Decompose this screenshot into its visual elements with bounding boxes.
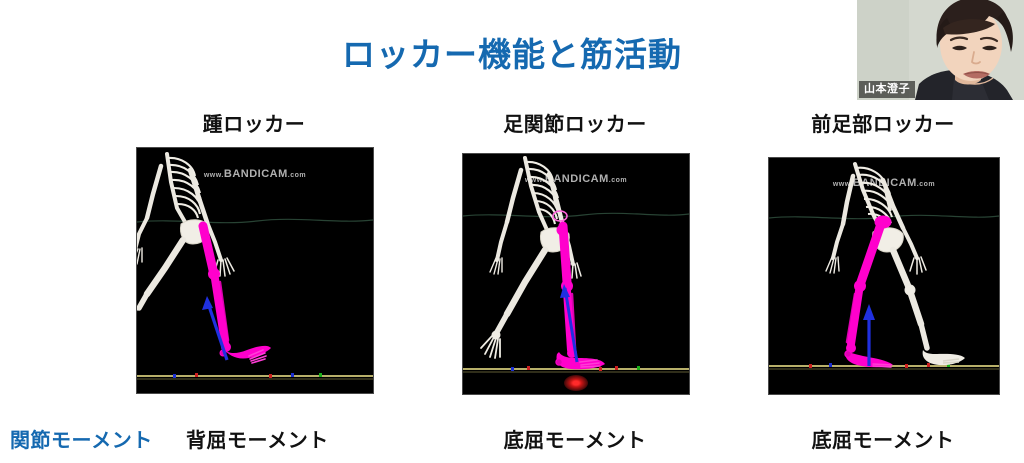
force-plate-marker — [564, 375, 588, 391]
moment-label-heel-rocker: 背屈モーメント — [186, 424, 386, 453]
column-heading-ankle-rocker: 足関節ロッカー — [462, 108, 688, 137]
moment-label-forefoot-rocker: 底屈モーメント — [768, 424, 998, 453]
column-heading-forefoot-rocker: 前足部ロッカー — [768, 108, 998, 137]
video-panel-ankle-rocker[interactable]: www.BANDICAM.com — [462, 153, 690, 395]
video-panel-heel-rocker[interactable]: www.BANDICAM.com — [136, 147, 374, 394]
webcam-participant-name: 山本澄子 — [859, 81, 915, 98]
video-panel-forefoot-rocker[interactable]: www.BANDICAM.com — [768, 157, 1000, 395]
column-heading-heel-rocker: 踵ロッカー — [136, 108, 372, 137]
skeleton-gait-figure-forefoot-rocker — [769, 158, 999, 394]
skeleton-gait-figure-ankle-rocker — [463, 154, 689, 394]
moment-label-ankle-rocker: 底屈モーメント — [462, 424, 688, 453]
webcam-video-tile[interactable]: 山本澄子 — [857, 0, 1024, 100]
skeleton-gait-figure-heel-rocker — [137, 148, 373, 393]
legend-joint-moment: 関節モーメント — [10, 424, 153, 453]
